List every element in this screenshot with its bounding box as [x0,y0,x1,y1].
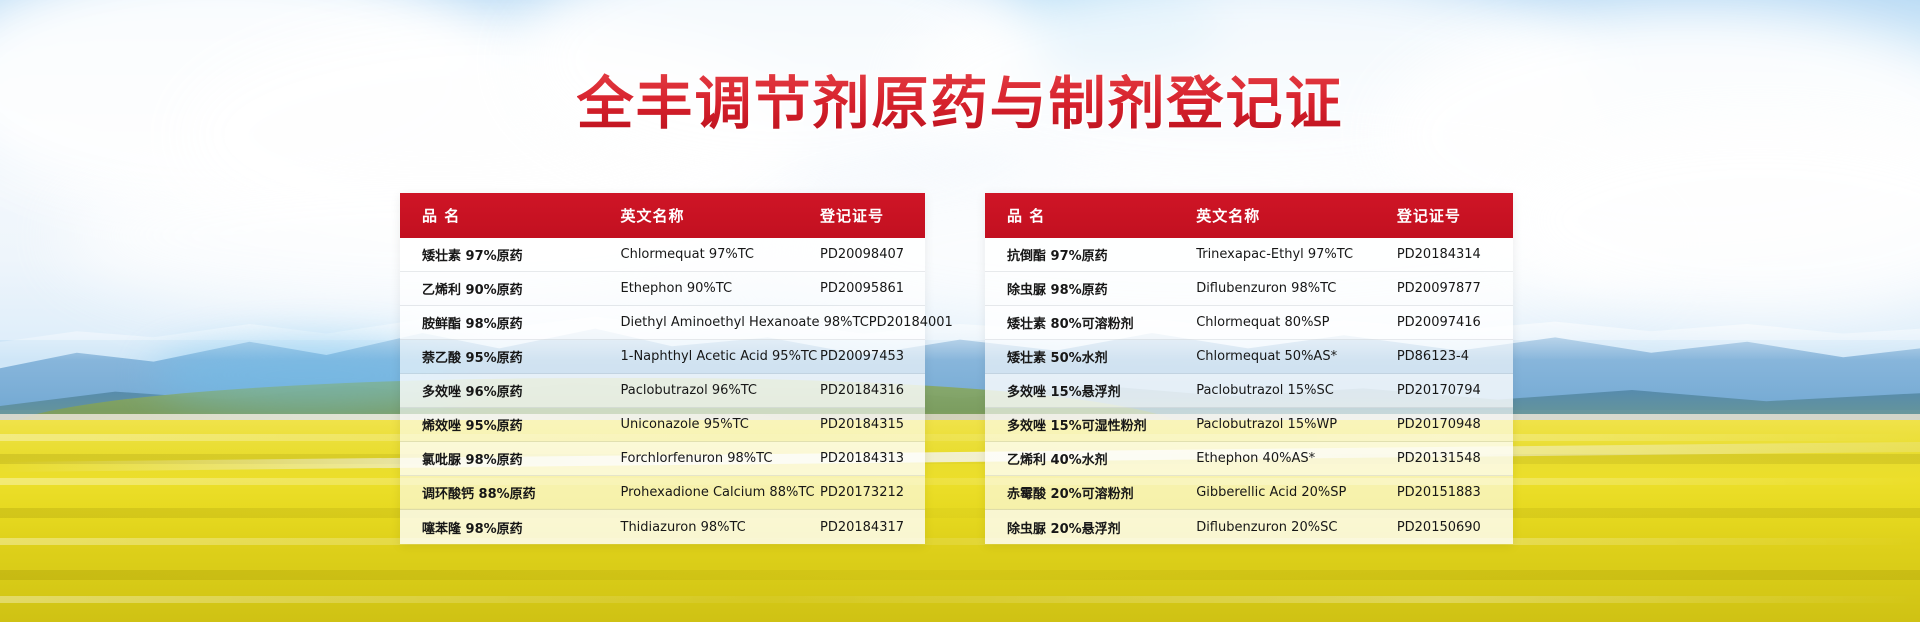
field-streak [0,508,1920,518]
cell-registration-no: PD20095861 [820,281,925,296]
cell-english-name: Gibberellic Acid 20%SP [1196,485,1397,500]
cell-registration-no: PD20097877 [1397,281,1513,296]
table-row: 乙烯利 90%原药 Ethephon 90%TC PD20095861 [400,272,925,306]
column-header-product-name: 品 名 [985,205,1196,226]
cell-product-name: 多效唑 96%原药 [400,381,621,400]
table-row: 多效唑 15%可湿性粉剂 Paclobutrazol 15%WP PD20170… [985,408,1513,442]
cell-registration-no: PD20184001 [869,315,953,330]
page-title: 全丰调节剂原药与制剂登记证 [577,58,1344,140]
field-streak [0,570,1920,580]
table-row: 乙烯利 40%水剂 Ethephon 40%AS* PD20131548 [985,442,1513,476]
registration-table-right: 品 名 英文名称 登记证号 抗倒酯 97%原药 Trinexapac-Ethyl… [985,193,1513,544]
table-row: 矮壮素 50%水剂 Chlormequat 50%AS* PD86123-4 [985,340,1513,374]
cell-registration-no: PD20097416 [1397,315,1513,330]
table-row: 除虫脲 20%悬浮剂 Diflubenzuron 20%SC PD2015069… [985,510,1513,544]
cell-english-name: Chlormequat 50%AS* [1196,349,1397,364]
table-body: 矮壮素 97%原药 Chlormequat 97%TC PD20098407 乙… [400,238,925,544]
table-row: 多效唑 15%悬浮剂 Paclobutrazol 15%SC PD2017079… [985,374,1513,408]
cell-registration-no: PD20150690 [1397,520,1513,535]
cell-english-name: Thidiazuron 98%TC [621,520,821,535]
cell-registration-no: PD20184315 [820,417,925,432]
table-row: 调环酸钙 88%原药 Prohexadione Calcium 88%TC PD… [400,476,925,510]
cell-registration-no: PD20184317 [820,520,925,535]
cell-registration-no: PD20151883 [1397,485,1513,500]
cell-english-name: Forchlorfenuron 98%TC [621,451,821,466]
cell-product-name: 赤霉酸 20%可溶粉剂 [985,483,1196,502]
cell-product-name: 抗倒酯 97%原药 [985,245,1196,264]
page-title-wrap: 全丰调节剂原药与制剂登记证 [0,58,1920,140]
cell-product-name: 多效唑 15%悬浮剂 [985,381,1196,400]
field-streak [0,434,1920,441]
cell-product-name: 乙烯利 40%水剂 [985,449,1196,468]
cell-product-name: 烯效唑 95%原药 [400,415,621,434]
cell-product-name: 氯吡脲 98%原药 [400,449,621,468]
cell-english-name: Ethephon 90%TC [621,281,821,296]
table-row: 烯效唑 95%原药 Uniconazole 95%TC PD20184315 [400,408,925,442]
table-row: 抗倒酯 97%原药 Trinexapac-Ethyl 97%TC PD20184… [985,238,1513,272]
column-header-english-name: 英文名称 [621,205,821,226]
cell-product-name: 除虫脲 98%原药 [985,279,1196,298]
table-row: 噻苯隆 98%原药 Thidiazuron 98%TC PD20184317 [400,510,925,544]
cell-english-name: Diflubenzuron 98%TC [1196,281,1397,296]
field-streak [0,538,1920,545]
cell-english-name: Trinexapac-Ethyl 97%TC [1196,247,1397,262]
cell-english-name: Prohexadione Calcium 88%TC [621,485,821,500]
cell-registration-no: PD20184314 [1397,247,1513,262]
cell-product-name: 多效唑 15%可湿性粉剂 [985,415,1196,434]
table-row: 矮壮素 80%可溶粉剂 Chlormequat 80%SP PD20097416 [985,306,1513,340]
cell-english-name: Paclobutrazol 15%SC [1196,383,1397,398]
cell-english-name: Chlormequat 80%SP [1196,315,1397,330]
column-header-registration-no: 登记证号 [820,205,925,226]
table-header-row: 品 名 英文名称 登记证号 [400,193,925,238]
cell-product-name: 乙烯利 90%原药 [400,279,621,298]
table-row: 矮壮素 97%原药 Chlormequat 97%TC PD20098407 [400,238,925,272]
cell-product-name: 胺鲜酯 98%原药 [400,313,621,332]
cell-product-name: 除虫脲 20%悬浮剂 [985,518,1196,537]
cell-registration-no: PD20170948 [1397,417,1513,432]
cell-product-name: 矮壮素 80%可溶粉剂 [985,313,1196,332]
cell-english-name: Paclobutrazol 96%TC [621,383,821,398]
cell-english-name: Diflubenzuron 20%SC [1196,520,1397,535]
table-body: 抗倒酯 97%原药 Trinexapac-Ethyl 97%TC PD20184… [985,238,1513,544]
cell-registration-no: PD20097453 [820,349,925,364]
cell-registration-no: PD20173212 [820,485,925,500]
cell-registration-no: PD20184313 [820,451,925,466]
cell-product-name: 矮壮素 50%水剂 [985,347,1196,366]
cell-registration-no: PD20184316 [820,383,925,398]
table-row: 多效唑 96%原药 Paclobutrazol 96%TC PD20184316 [400,374,925,408]
table-row: 除虫脲 98%原药 Diflubenzuron 98%TC PD20097877 [985,272,1513,306]
cell-product-name: 调环酸钙 88%原药 [400,483,621,502]
cell-english-name: Paclobutrazol 15%WP [1196,417,1397,432]
cell-registration-no: PD20131548 [1397,451,1513,466]
field-streak [0,478,1920,485]
table-row: 氯吡脲 98%原药 Forchlorfenuron 98%TC PD201843… [400,442,925,476]
table-header-row: 品 名 英文名称 登记证号 [985,193,1513,238]
cell-registration-no: PD86123-4 [1397,349,1513,364]
cell-english-name: Diethyl Aminoethyl Hexanoate 98%TC [621,315,869,330]
field-streak [0,596,1920,603]
column-header-product-name: 品 名 [400,205,621,226]
cell-registration-no: PD20098407 [820,247,925,262]
cell-registration-no: PD20170794 [1397,383,1513,398]
registration-table-left: 品 名 英文名称 登记证号 矮壮素 97%原药 Chlormequat 97%T… [400,193,925,544]
column-header-registration-no: 登记证号 [1397,205,1513,226]
cell-product-name: 矮壮素 97%原药 [400,245,621,264]
table-row: 萘乙酸 95%原药 1-Naphthyl Acetic Acid 95%TC P… [400,340,925,374]
table-row: 赤霉酸 20%可溶粉剂 Gibberellic Acid 20%SP PD201… [985,476,1513,510]
cell-english-name: Chlormequat 97%TC [621,247,821,262]
column-header-english-name: 英文名称 [1196,205,1397,226]
cell-product-name: 噻苯隆 98%原药 [400,518,621,537]
cell-english-name: Uniconazole 95%TC [621,417,821,432]
table-row: 胺鲜酯 98%原药 Diethyl Aminoethyl Hexanoate 9… [400,306,925,340]
cell-product-name: 萘乙酸 95%原药 [400,347,621,366]
cell-english-name: 1-Naphthyl Acetic Acid 95%TC [621,349,821,364]
cell-english-name: Ethephon 40%AS* [1196,451,1397,466]
